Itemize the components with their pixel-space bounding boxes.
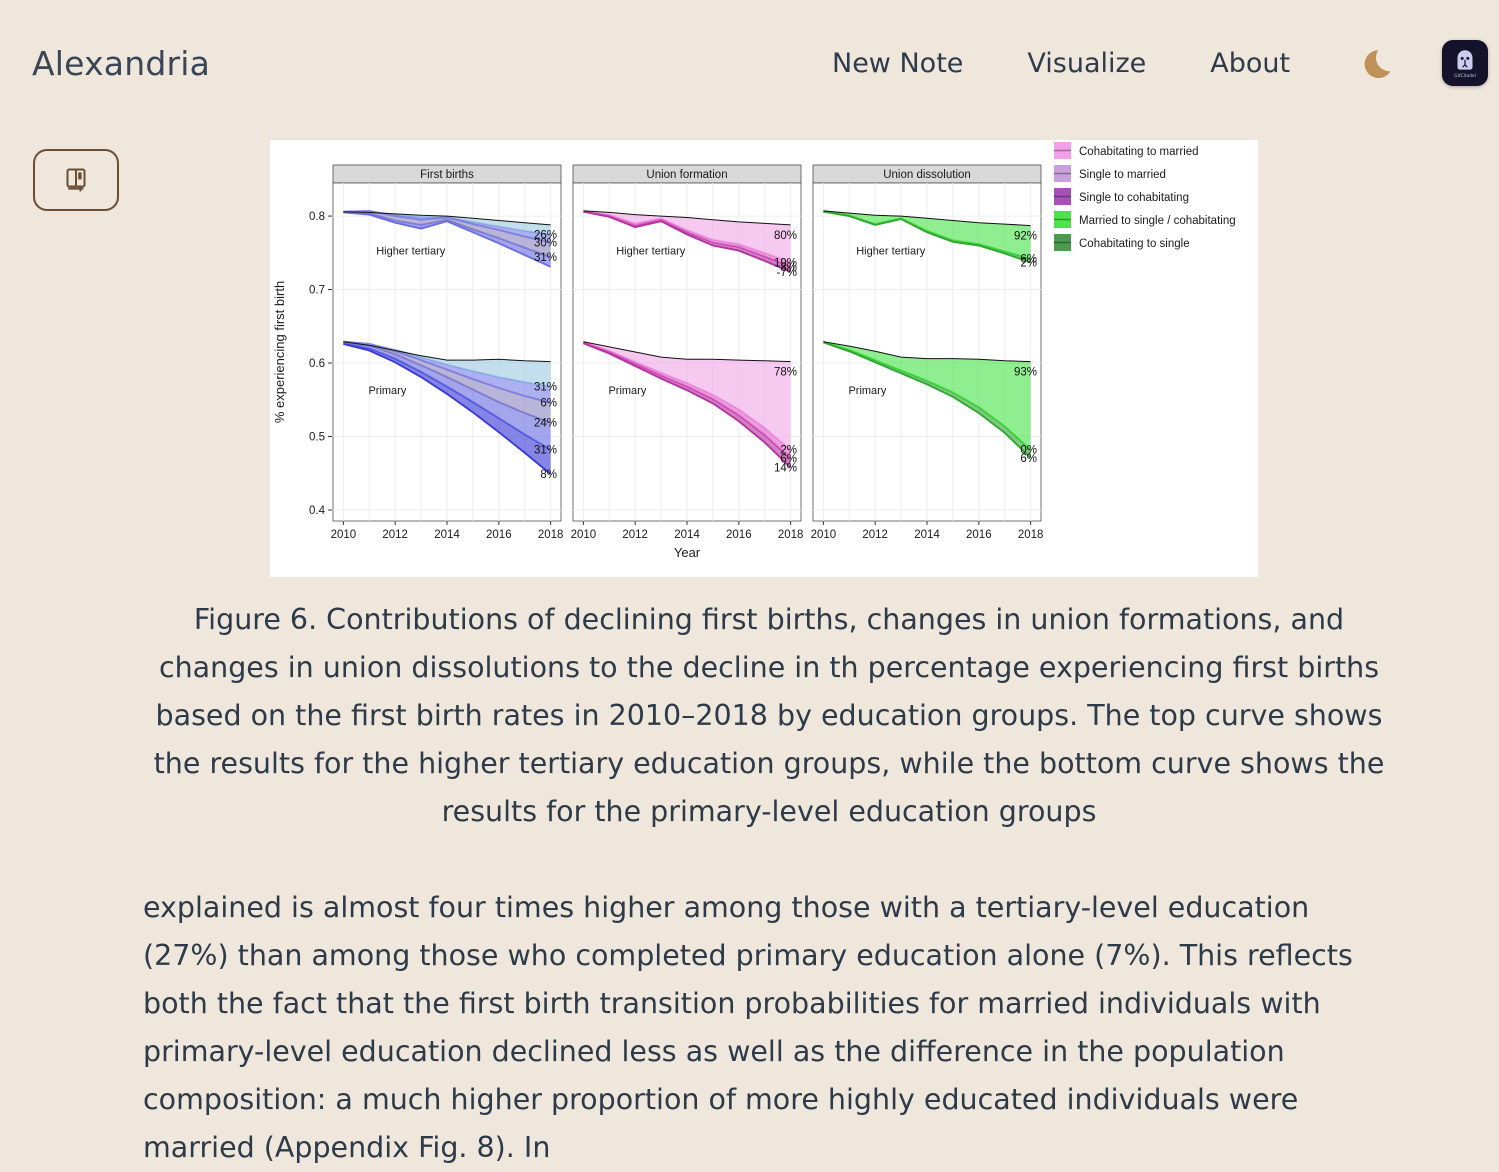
x-axis-tick: 2018 — [1018, 529, 1044, 541]
chart-panel: Union formation20102012201420162018Highe… — [571, 165, 804, 541]
x-axis-tick: 2014 — [674, 529, 700, 541]
series-end-label: 92% — [1014, 231, 1037, 243]
series-end-label: 78% — [774, 367, 797, 379]
series-end-label: 6% — [540, 398, 557, 410]
x-axis-tick: 2010 — [811, 529, 837, 541]
library-toggle-button[interactable] — [33, 149, 119, 211]
x-axis-tick: 2018 — [538, 529, 564, 541]
legend-item: Single to cohabitating — [1054, 188, 1189, 205]
x-axis-tick: 2018 — [778, 529, 804, 541]
panel-title: Union formation — [646, 169, 727, 181]
book-icon — [63, 166, 89, 194]
legend-item: Cohabitating to single — [1054, 234, 1190, 251]
group-label: Primary — [608, 385, 646, 397]
app-brand-title[interactable]: Alexandria — [32, 44, 210, 83]
legend-label: Cohabitating to married — [1079, 146, 1199, 158]
x-axis-tick: 2010 — [331, 529, 357, 541]
chart-panel: First births20102012201420162018Higher t… — [331, 165, 564, 541]
nav-item-about[interactable]: About — [1178, 48, 1322, 79]
chart-panel: Union dissolution20102012201420162018Hig… — [811, 165, 1044, 541]
group-label: Higher tertiary — [616, 245, 686, 257]
x-axis-tick: 2014 — [914, 529, 940, 541]
series-end-label: 14% — [774, 462, 797, 474]
gitcitadel-ghost-icon — [1454, 48, 1476, 72]
series-end-label: 31% — [534, 252, 557, 264]
legend-label: Cohabitating to single — [1079, 238, 1190, 250]
moon-icon — [1364, 45, 1398, 81]
series-end-label: 30% — [534, 238, 557, 250]
series-end-label: 8% — [540, 469, 557, 481]
theme-toggle-button[interactable] — [1364, 45, 1398, 81]
legend-label: Single to married — [1079, 169, 1166, 181]
y-axis-tick: 0.4 — [309, 505, 326, 517]
series-end-label: 93% — [1014, 367, 1037, 379]
series-end-label: 6% — [1020, 453, 1037, 465]
legend-item: Married to single / cohabitating — [1054, 211, 1236, 228]
x-axis-tick: 2012 — [382, 529, 408, 541]
gitcitadel-logo-button[interactable]: GitCitadel — [1442, 40, 1488, 86]
x-axis-tick: 2014 — [434, 529, 460, 541]
legend-label: Single to cohabitating — [1079, 192, 1189, 204]
logo-caption: GitCitadel — [1454, 73, 1476, 78]
series-end-label: -7% — [777, 267, 797, 279]
legend-item: Single to married — [1054, 165, 1166, 182]
main-nav: New Note Visualize About GitCitadel — [800, 40, 1488, 86]
group-label: Higher tertiary — [376, 245, 446, 257]
y-axis-tick: 0.7 — [309, 285, 325, 297]
legend-label: Married to single / cohabitating — [1079, 215, 1236, 227]
panel-title: Union dissolution — [883, 169, 971, 181]
nav-item-visualize[interactable]: Visualize — [995, 48, 1178, 79]
group-label: Higher tertiary — [856, 245, 926, 257]
x-axis-tick: 2016 — [966, 529, 992, 541]
x-axis-tick: 2010 — [571, 529, 597, 541]
series-end-label: 2% — [1020, 257, 1037, 269]
figure-caption: Figure 6. Contributions of declining fir… — [140, 596, 1398, 836]
x-axis-tick: 2012 — [622, 529, 648, 541]
y-axis-tick: 0.6 — [309, 358, 325, 370]
group-label: Primary — [848, 385, 886, 397]
nav-item-new-note[interactable]: New Note — [800, 48, 995, 79]
panel-title: First births — [420, 169, 474, 181]
y-axis-tick: 0.5 — [309, 432, 325, 444]
x-axis-tick: 2012 — [862, 529, 888, 541]
figure-image-container[interactable]: % experiencing first birth0.40.50.60.70.… — [270, 140, 1258, 577]
app-header: Alexandria New Note Visualize About GitC… — [0, 0, 1499, 128]
series-end-label: 24% — [534, 418, 557, 430]
series-end-label: 31% — [534, 445, 557, 457]
x-axis-tick: 2016 — [726, 529, 752, 541]
article-body-paragraph: explained is almost four times higher am… — [143, 884, 1391, 1172]
figure-chart: % experiencing first birth0.40.50.60.70.… — [270, 140, 1258, 577]
series-end-label: 80% — [774, 230, 797, 242]
series-end-label: 31% — [534, 382, 557, 394]
x-axis-tick: 2016 — [486, 529, 512, 541]
legend-item: Cohabitating to married — [1054, 142, 1199, 159]
y-axis-tick: 0.8 — [309, 211, 325, 223]
y-axis-label: % experiencing first birth — [272, 281, 287, 423]
group-label: Primary — [368, 385, 406, 397]
x-axis-label: Year — [674, 545, 701, 560]
